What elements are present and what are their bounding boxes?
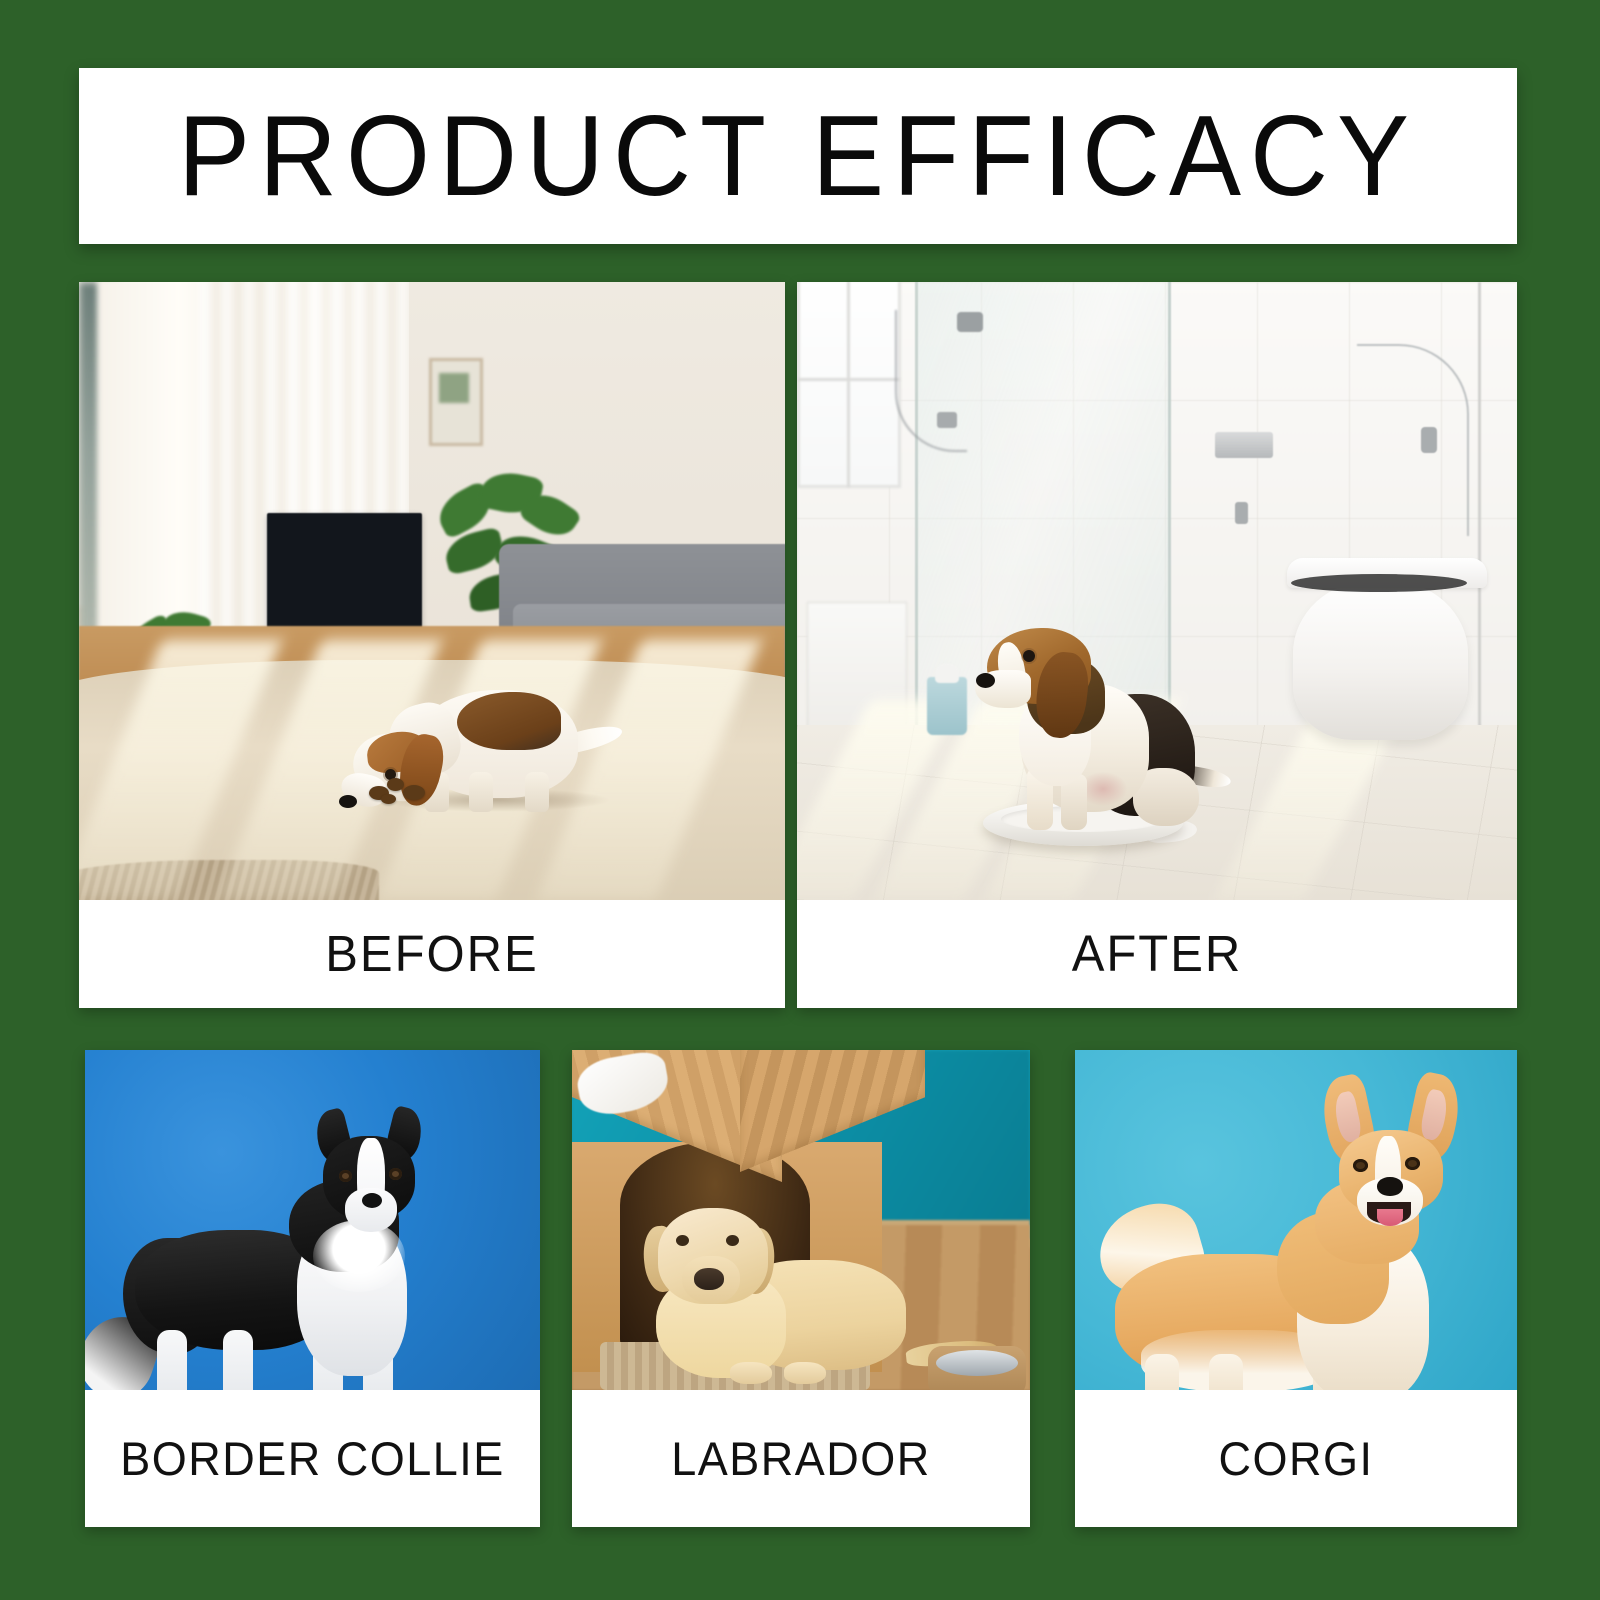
- title-banner: PRODUCT EFFICACY: [79, 68, 1517, 244]
- toilet-bowl: [1293, 580, 1468, 740]
- dog-nose: [1377, 1177, 1403, 1196]
- comparison-card-before[interactable]: BEFORE: [79, 282, 785, 1008]
- floor-mess: [369, 776, 433, 802]
- wall-hook: [1235, 502, 1248, 524]
- wall-picture-frame: [429, 358, 483, 446]
- corgi-caption-bar: CORGI: [1075, 1390, 1517, 1527]
- comparison-card-after[interactable]: AFTER: [797, 282, 1517, 1008]
- page-title: PRODUCT EFFICACY: [178, 99, 1418, 213]
- dog-leg: [525, 772, 549, 812]
- waste-bin: [927, 677, 967, 735]
- border-collie-caption-bar: BORDER COLLIE: [85, 1390, 540, 1527]
- dog-leg: [469, 772, 493, 812]
- dog-paw: [784, 1362, 826, 1384]
- border-collie-photo: [85, 1050, 540, 1390]
- caption-labrador: LABRADOR: [671, 1435, 931, 1482]
- caption-before: BEFORE: [325, 928, 538, 979]
- secondary-hose: [1357, 344, 1469, 536]
- dog-eye-left: [1353, 1159, 1368, 1172]
- labrador-caption-bar: LABRADOR: [572, 1390, 1030, 1527]
- doghouse-scene: [572, 1050, 1030, 1390]
- dog-eye-right: [726, 1235, 739, 1246]
- corgi-dog: [1101, 1072, 1501, 1390]
- living-room-scene: [79, 282, 785, 900]
- dog-eye-left: [339, 1170, 352, 1182]
- after-caption-bar: AFTER: [797, 900, 1517, 1008]
- food-bowl: [928, 1346, 1026, 1390]
- after-photo: [797, 282, 1517, 900]
- soap-dispenser: [1215, 432, 1273, 458]
- dog-eye-left: [676, 1235, 689, 1246]
- cyan-studio-backdrop: [1075, 1050, 1517, 1390]
- bathroom-scene: [797, 282, 1517, 900]
- toilet-seat: [1291, 574, 1467, 592]
- dog-nose: [694, 1268, 724, 1290]
- labrador-dog: [634, 1166, 944, 1386]
- dog-saddle-marking: [457, 692, 561, 750]
- shower-valve: [937, 412, 957, 428]
- dog-eye-right: [389, 1168, 402, 1180]
- dog-nose: [362, 1193, 382, 1208]
- blue-studio-backdrop: [85, 1050, 540, 1390]
- bathroom-window: [797, 282, 901, 488]
- dog-nose: [339, 795, 357, 808]
- dog-eye: [1023, 650, 1035, 662]
- dog-tongue: [1377, 1209, 1403, 1226]
- toilet: [1287, 558, 1487, 758]
- border-collie-dog: [127, 1074, 457, 1390]
- beagle-dog-after: [975, 580, 1215, 830]
- before-photo: [79, 282, 785, 900]
- breed-card-border-collie[interactable]: BORDER COLLIE: [85, 1050, 540, 1527]
- dog-nose: [976, 673, 995, 688]
- dog-paw: [730, 1362, 772, 1384]
- dog-leg: [223, 1330, 253, 1390]
- caption-corgi: CORGI: [1218, 1435, 1373, 1482]
- dog-leg: [1145, 1354, 1179, 1390]
- breed-card-corgi[interactable]: CORGI: [1075, 1050, 1517, 1527]
- mixer-tap: [1421, 427, 1437, 453]
- corgi-photo: [1075, 1050, 1517, 1390]
- dog-eye-right: [1405, 1157, 1420, 1170]
- dog-ruff: [313, 1220, 405, 1292]
- poster-canvas: PRODUCT EFFICACY: [0, 0, 1600, 1600]
- caption-border-collie: BORDER COLLIE: [120, 1435, 505, 1482]
- labrador-photo: [572, 1050, 1030, 1390]
- breed-card-labrador[interactable]: LABRADOR: [572, 1050, 1030, 1527]
- caption-after: AFTER: [1072, 928, 1243, 979]
- dog-leg: [1209, 1354, 1243, 1390]
- dog-leg: [157, 1330, 187, 1390]
- before-caption-bar: BEFORE: [79, 900, 785, 1008]
